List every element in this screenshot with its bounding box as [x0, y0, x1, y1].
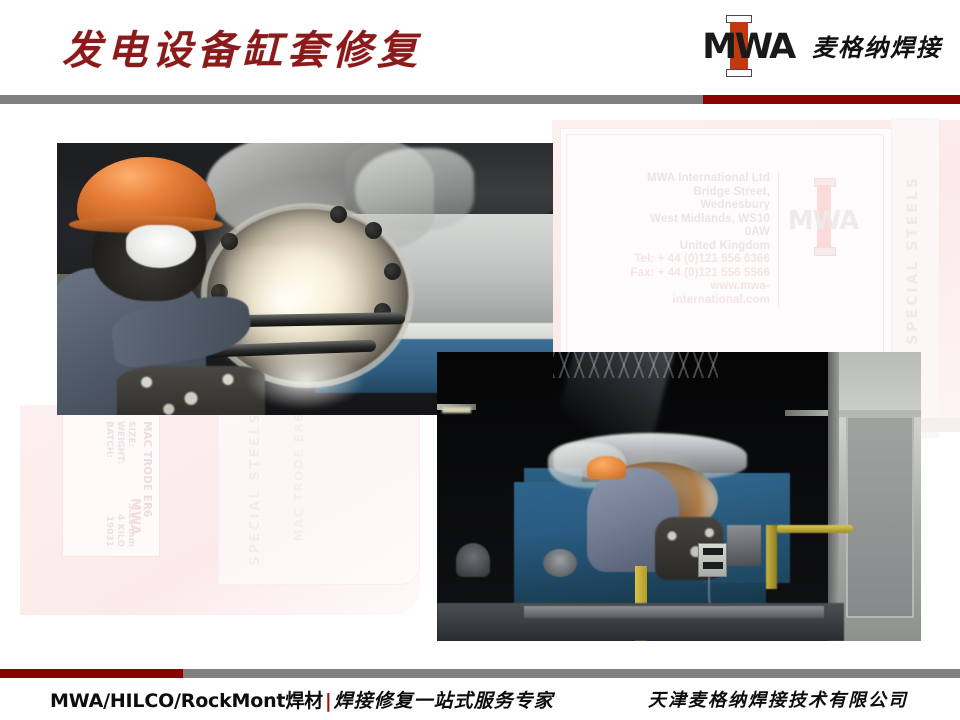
brand-logo: MWA 麦格纳焊接 — [690, 12, 942, 78]
watermark-batch-key: BATCH: — [103, 421, 114, 458]
mwa-logo-mark: MWA — [690, 13, 806, 77]
watermark-pink-panel-left — [20, 405, 420, 615]
photo1-flange-bolt — [330, 206, 347, 223]
header-divider — [0, 95, 960, 104]
page-title: 发电设备缸套修复 — [62, 18, 422, 76]
photo2-worker-hard-hat — [587, 456, 626, 479]
photo2-floor-rail — [524, 606, 824, 618]
watermark-mwa-text: MWA — [778, 206, 868, 236]
footer-service-text: 焊接修复一站式服务专家 — [334, 690, 554, 712]
photo-workshop-engine-repair — [437, 352, 921, 641]
watermark-weight-value: 4 KILO — [114, 514, 125, 547]
photo2-door-frame — [828, 352, 839, 641]
watermark-product-name-left: MAC TRODE ER6 — [292, 412, 306, 541]
watermark-weight-key: WEIGHT: — [114, 421, 125, 465]
photo1-plastic-sheeting-2 — [355, 148, 474, 230]
footer-separator: | — [323, 690, 334, 712]
photo1-camo-cloth — [117, 366, 266, 415]
watermark-address-line-1: Bridge Street, Wednesbury — [630, 186, 770, 213]
footer-brands: MWA/HILCO/RockMont焊材 — [50, 690, 323, 712]
watermark-fax: Fax: + 44 (0)121 556 5566 — [630, 267, 770, 281]
watermark-product-label-box — [62, 413, 160, 557]
watermark-product-label-text: MAC TRODE ER6 SIZE: 3.25 mm WEIGHT: 4 KI… — [62, 413, 158, 555]
watermark-batch-value: 19031 — [103, 516, 114, 547]
slide-canvas: MWA International Ltd Bridge Street, Wed… — [0, 0, 960, 720]
watermark-address-line-3: United Kingdom — [630, 240, 770, 254]
watermark-special-steels-right: SPECIAL STEELS — [905, 175, 921, 345]
watermark-address-block: MWA International Ltd Bridge Street, Wed… — [630, 172, 779, 307]
watermark-company: MWA International Ltd — [630, 172, 770, 186]
watermark-address-card-inner — [566, 134, 884, 358]
photo2-equipment-box — [727, 525, 761, 565]
watermark-size-key: SIZE: — [125, 421, 136, 447]
watermark-mini-mwa-mark: MWA — [127, 498, 142, 535]
watermark-size-value: 3.25 mm — [125, 503, 136, 547]
watermark-tel: Tel: + 44 (0)121 556 6366 — [630, 253, 770, 267]
footer-divider — [0, 669, 960, 678]
photo2-yellow-pipe — [776, 525, 853, 532]
footer-divider-red — [0, 669, 183, 678]
footer-tagline: MWA/HILCO/RockMont焊材|焊接修复一站式服务专家 — [50, 686, 554, 713]
footer-divider-gray — [183, 669, 960, 678]
photo1-flange-bolt — [365, 222, 382, 239]
watermark-special-steels-left: SPECIAL STEELS — [248, 412, 263, 566]
header-divider-gray — [0, 95, 703, 104]
footer-company-name: 天津麦格纳焊接技术有限公司 — [648, 686, 908, 712]
watermark-address-line-2: West Midlands, WS10 0AW — [630, 213, 770, 240]
watermark-address-card — [560, 128, 892, 365]
watermark-mwa-logo: MWA — [778, 178, 868, 258]
photo2-door-pane — [846, 416, 914, 618]
watermark-carton-left — [218, 405, 420, 585]
photo2-yellow-pipe-vertical — [766, 525, 777, 589]
watermark-website: www.mwa-international.com — [630, 280, 770, 307]
header-divider-red — [703, 95, 960, 104]
mwa-wordmark: MWA — [690, 27, 806, 67]
photo1-lower-glare — [245, 350, 364, 410]
photo2-beam-right — [785, 410, 833, 416]
photo2-valve-left — [456, 543, 490, 578]
watermark-spool-icon — [814, 178, 834, 256]
photo2-wall-lamp — [442, 407, 471, 413]
brand-name-chinese: 麦格纳焊接 — [812, 28, 942, 63]
watermark-product-name: MAC TRODE ER6 — [141, 421, 152, 547]
photo1-flange-bolt — [384, 263, 401, 280]
